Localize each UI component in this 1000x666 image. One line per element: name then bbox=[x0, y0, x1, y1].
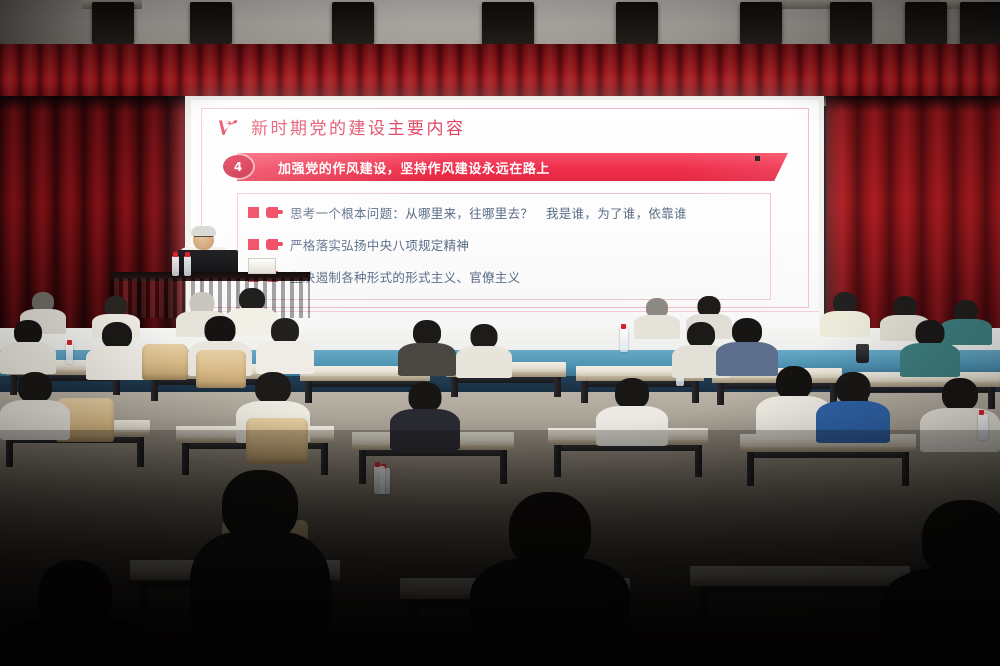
list-item: 思考一个根本问题：从哪里来，往哪里去？ 我是谁，为了谁，依靠谁 bbox=[248, 203, 687, 222]
cpc-hammer-sickle-emblem bbox=[217, 115, 242, 139]
hand-pointer-icon bbox=[266, 206, 283, 219]
stage-spotlight bbox=[960, 2, 1000, 44]
banner-number-badge: 4 bbox=[223, 155, 253, 178]
stage-spotlight bbox=[905, 2, 947, 44]
chair bbox=[142, 344, 188, 380]
speaker-hair bbox=[191, 226, 216, 236]
stage-spotlight bbox=[740, 2, 782, 44]
floor-shadow bbox=[0, 430, 1000, 666]
audience-person bbox=[820, 292, 870, 336]
slide-bullet-panel: 思考一个根本问题：从哪里来，往哪里去？ 我是谁，为了谁，依靠谁 严格落实弘扬中央… bbox=[237, 193, 771, 300]
name-card bbox=[248, 258, 276, 274]
audience-person bbox=[0, 372, 70, 438]
audience-person bbox=[86, 322, 148, 378]
red-square-icon bbox=[248, 239, 259, 250]
audience-person bbox=[900, 320, 960, 376]
audience-person bbox=[0, 320, 56, 372]
stage-spotlight bbox=[190, 2, 232, 44]
speaker-glasses bbox=[194, 236, 213, 241]
hand-pointer-icon bbox=[266, 238, 283, 251]
bullet-text: 思考一个根本问题：从哪里来，往哪里去？ 我是谁，为了谁，依靠谁 bbox=[290, 203, 687, 222]
banner-dot bbox=[755, 156, 760, 161]
stage-spotlight bbox=[92, 2, 134, 44]
conference-hall-photo: 新时期党的建设主要内容 4 加强党的作风建设，坚持作风建设永远在路上 思考一个根… bbox=[0, 0, 1000, 666]
curtain-valance bbox=[0, 44, 1000, 102]
water-bottle bbox=[66, 344, 73, 364]
bullet-text: 严格落实弘扬中央八项规定精神 bbox=[290, 235, 469, 254]
stage-spotlight bbox=[616, 2, 658, 44]
slide-section-banner: 4 加强党的作风建设，坚持作风建设永远在路上 bbox=[223, 153, 788, 181]
water-bottle bbox=[620, 328, 628, 352]
stage-spotlight bbox=[830, 2, 872, 44]
water-bottle bbox=[184, 256, 191, 276]
audience-person bbox=[456, 324, 512, 376]
audience-person bbox=[398, 320, 456, 374]
stage-spotlight bbox=[482, 2, 534, 48]
list-item: 严格落实弘扬中央八项规定精神 bbox=[248, 235, 469, 254]
banner-text: 加强党的作风建设，坚持作风建设永远在路上 bbox=[278, 158, 550, 177]
slide-title-row: 新时期党的建设主要内容 bbox=[217, 114, 466, 139]
slide-title: 新时期党的建设主要内容 bbox=[251, 114, 466, 139]
stage-spotlight bbox=[332, 2, 374, 44]
red-square-icon bbox=[248, 207, 259, 218]
water-bottle bbox=[172, 256, 179, 276]
bullet-text: 坚决遏制各种形式的形式主义、官僚主义 bbox=[290, 267, 520, 286]
audience-person bbox=[256, 318, 314, 372]
black-mug bbox=[856, 344, 869, 363]
